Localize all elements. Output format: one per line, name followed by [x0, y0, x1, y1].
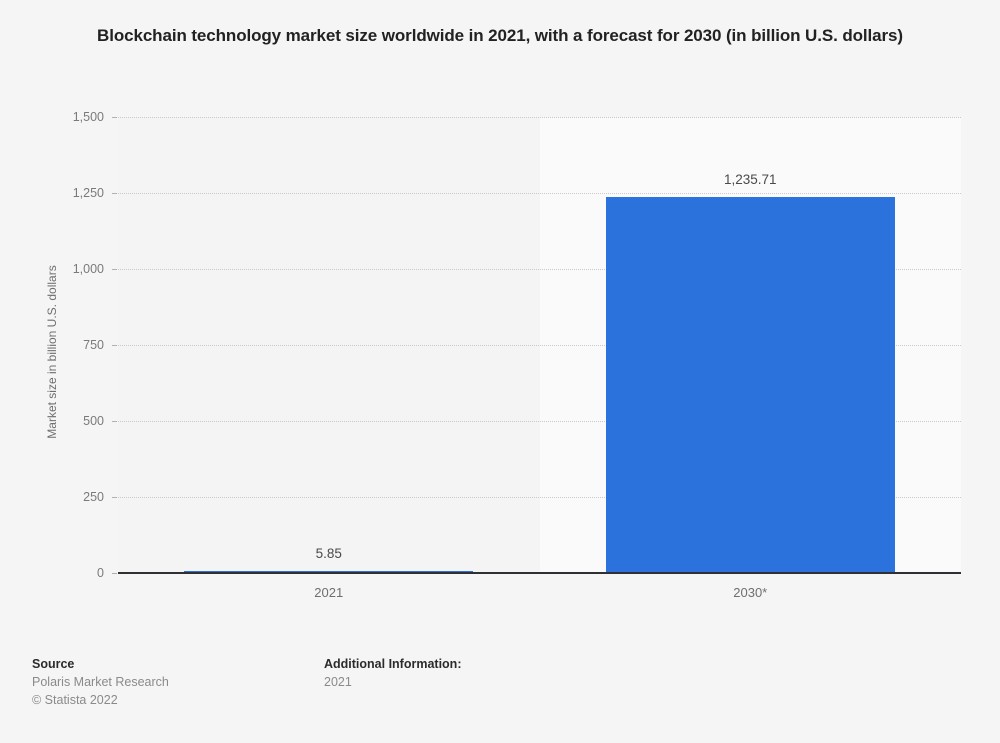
- copyright-line: © Statista 2022: [32, 691, 169, 709]
- y-tick-mark: [112, 421, 117, 422]
- gridline: [118, 193, 961, 194]
- y-tick-label: 1,500: [0, 110, 104, 124]
- y-tick-label: 250: [0, 490, 104, 504]
- chart-footer: Source Polaris Market Research © Statist…: [0, 655, 1000, 743]
- y-tick-mark: [112, 193, 117, 194]
- bar-value-label: 1,235.71: [724, 172, 777, 187]
- y-tick-mark: [112, 497, 117, 498]
- x-tick-label: 2030*: [733, 585, 767, 600]
- source-block: Source Polaris Market Research © Statist…: [32, 655, 169, 709]
- y-tick-mark: [112, 117, 117, 118]
- chart-plot-area: [118, 117, 961, 573]
- source-heading: Source: [32, 655, 169, 673]
- y-tick-mark: [112, 345, 117, 346]
- y-axis-title: Market size in billion U.S. dollars: [45, 237, 59, 467]
- x-axis-line: [118, 572, 961, 574]
- x-tick-label: 2021: [314, 585, 343, 600]
- additional-information-heading: Additional Information:: [324, 655, 461, 673]
- additional-information-block: Additional Information: 2021: [324, 655, 461, 691]
- additional-information-value: 2021: [324, 673, 461, 691]
- bar-2030[interactable]: [606, 197, 895, 573]
- page-title: Blockchain technology market size worldw…: [70, 22, 930, 50]
- y-tick-label: 1,250: [0, 186, 104, 200]
- gridline: [118, 117, 961, 118]
- y-tick-mark: [112, 573, 117, 574]
- y-tick-label: 0: [0, 566, 104, 580]
- y-tick-mark: [112, 269, 117, 270]
- source-name: Polaris Market Research: [32, 673, 169, 691]
- bar-value-label: 5.85: [316, 546, 342, 561]
